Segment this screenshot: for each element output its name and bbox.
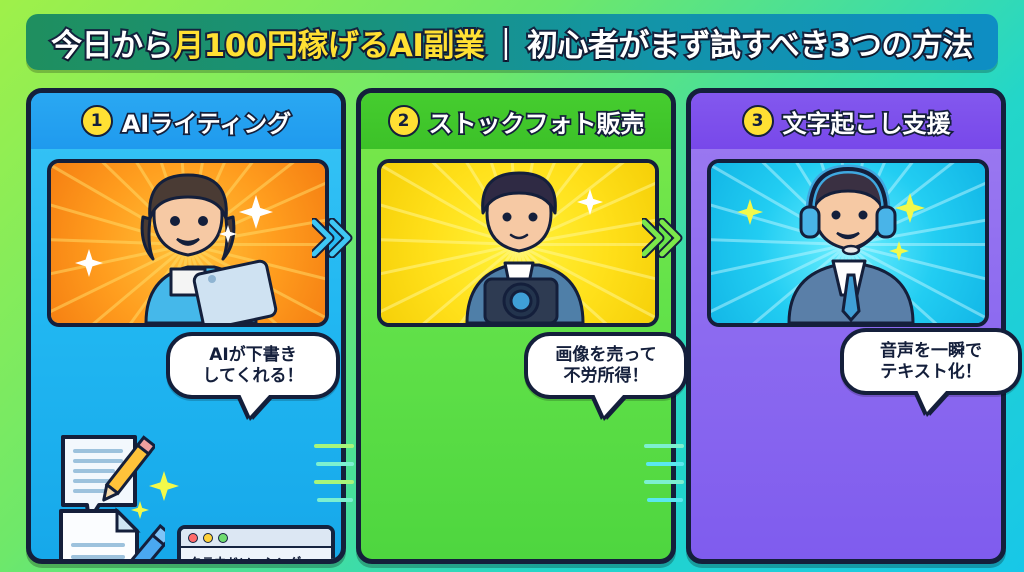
hero-image-man-with-camera — [377, 159, 659, 327]
panel-3-number-badge: 3 — [742, 105, 774, 137]
browser-page-title: クラウドソーシング — [181, 548, 331, 564]
woman-figure-illustration — [51, 163, 325, 323]
title-part-2: 初心者がまず試すべき3つの方法 — [527, 28, 973, 64]
flow-lines-1 — [314, 440, 358, 510]
browser-close-dot[interactable] — [188, 533, 198, 543]
panel-2-number-badge: 2 — [388, 105, 420, 137]
panel-1-number-badge: 1 — [81, 105, 113, 137]
hero-image-man-with-headset — [707, 159, 989, 327]
title-highlight: 月100円稼げるAI副業 — [173, 28, 484, 64]
browser-maximize-dot[interactable] — [218, 533, 228, 543]
panel-connector-arrow-2 — [642, 218, 684, 258]
panel-stock-photo[interactable]: 2 ストックフォト販売 — [356, 88, 676, 564]
speech-bubble-1: AIが下書き してくれる！ — [166, 332, 340, 399]
document-pen-icon — [53, 505, 165, 564]
panel-connector-arrow-1 — [312, 218, 354, 258]
title-banner: 今日から月100円稼げるAI副業｜初心者がまず試すべき3つの方法 — [26, 14, 998, 70]
speech-bubble-3: 音声を一瞬で テキスト化！ — [840, 328, 1022, 395]
title-separator: ｜ — [484, 28, 527, 64]
speech-bubble-2: 画像を売って 不労所得！ — [524, 332, 688, 399]
browser-window-crowdsourcing[interactable]: クラウドソーシング — [177, 525, 335, 564]
browser-minimize-dot[interactable] — [203, 533, 213, 543]
panel-3-title: 文字起こし支援 — [783, 104, 951, 139]
panel-2-title: ストックフォト販売 — [429, 104, 645, 139]
title-part-1: 今日から — [51, 28, 173, 64]
panel-1-title: AIライティング — [122, 104, 292, 139]
panel-transcription[interactable]: 3 文字起こし支援 — [686, 88, 1006, 564]
panel-3-header: 3 文字起こし支援 — [691, 93, 1001, 149]
man-camera-figure-illustration — [381, 163, 655, 323]
panel-ai-writing[interactable]: 1 AIライティング — [26, 88, 346, 564]
man-headset-figure-illustration — [711, 163, 985, 323]
page-title: 今日から月100円稼げるAI副業｜初心者がまず試すべき3つの方法 — [51, 20, 973, 65]
panel-2-header: 2 ストックフォト販売 — [361, 93, 671, 149]
panel-1-header: 1 AIライティング — [31, 93, 341, 149]
infographic-canvas: 今日から月100円稼げるAI副業｜初心者がまず試すべき3つの方法 1 AIライテ… — [0, 0, 1024, 572]
hero-image-woman-with-tablet — [47, 159, 329, 327]
browser-titlebar — [181, 529, 331, 548]
flow-lines-2 — [644, 440, 688, 510]
